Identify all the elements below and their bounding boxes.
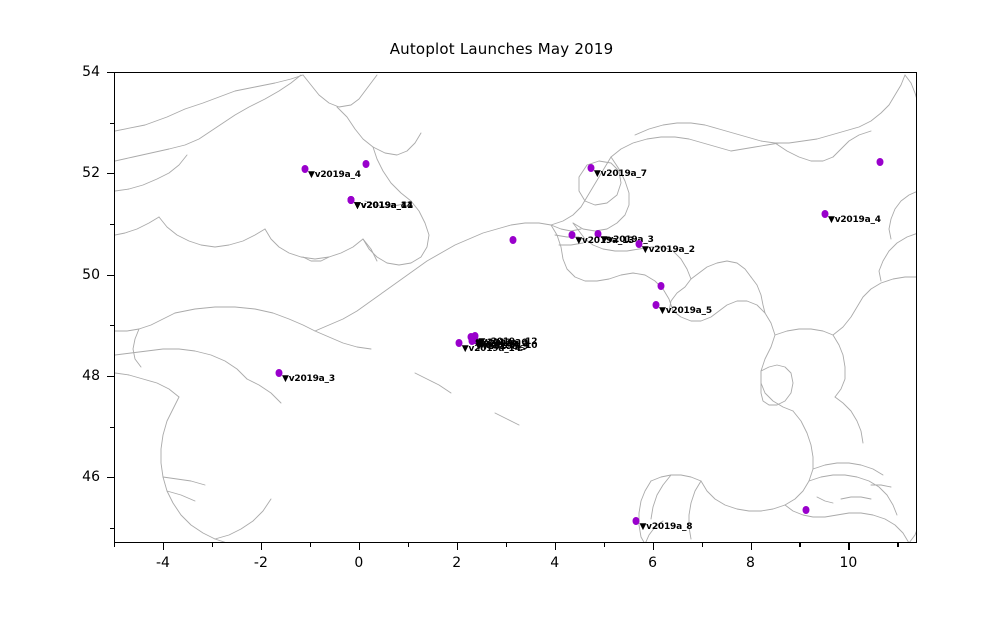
x-tick-major [848,543,849,550]
x-tick-label: 4 [550,555,559,571]
x-tick-minor [702,543,703,547]
coastline-map [115,73,917,543]
x-tick-minor [408,543,409,547]
x-tick-label: 2 [452,555,461,571]
data-point-label: ▼v2019a_8 [639,522,692,532]
data-point-label: ▼v2019a_3 [282,374,335,384]
y-tick-major [107,72,114,73]
x-tick-major [555,543,556,550]
x-tick-major [751,543,752,550]
data-point [876,158,883,166]
x-tick-label: -2 [254,555,268,571]
x-tick-major [653,543,654,550]
figure: Autoplot Launches May 2019 [0,0,1003,633]
x-tick-minor [604,543,605,547]
x-tick-minor [506,543,507,547]
x-tick-major [359,543,360,550]
data-point-label: ▼v2019a_13 [575,236,634,246]
x-tick-minor [310,543,311,547]
data-point [803,506,810,514]
x-tick-label: 6 [648,555,657,571]
data-point [509,236,516,244]
y-tick-label: 48 [52,368,100,384]
x-tick-minor [799,543,800,547]
x-tick-label: 0 [354,555,363,571]
data-point-label: ▼v2019a_4 [308,170,361,180]
y-tick-major [107,376,114,377]
map-plot-area: ▼v2019a_4▼v2019a_14▼v2019a_11▼v2019a_4▼v… [114,72,917,543]
data-point-label: ▼v2019a_4 [354,201,407,211]
chart-title: Autoplot Launches May 2019 [0,40,1003,58]
y-tick-major [107,173,114,174]
x-tick-major [163,543,164,550]
x-tick-minor [897,543,898,547]
data-point-label: ▼v2019a_4 [828,215,881,225]
x-tick-major [457,543,458,550]
data-point-label: ▼v2019a_14 [462,344,521,354]
y-tick-minor [110,325,114,326]
data-point [658,282,665,290]
x-tick-minor [114,543,115,547]
x-tick-label: 10 [840,555,858,571]
x-tick-major [261,543,262,550]
y-tick-minor [110,224,114,225]
y-tick-minor [110,427,114,428]
x-tick-label: 8 [746,555,755,571]
y-tick-minor [110,528,114,529]
data-point-label: ▼v2019a_7 [594,169,647,179]
y-tick-label: 50 [52,267,100,283]
y-tick-major [107,275,114,276]
y-tick-label: 54 [52,64,100,80]
data-point [362,160,369,168]
x-tick-minor [212,543,213,547]
y-tick-label: 46 [52,469,100,485]
data-point-label: ▼v2019a_5 [659,306,712,316]
data-point-label: ▼v2019a_2 [642,245,695,255]
y-tick-label: 52 [52,165,100,181]
y-tick-major [107,477,114,478]
y-tick-minor [110,123,114,124]
x-tick-label: -4 [156,555,170,571]
